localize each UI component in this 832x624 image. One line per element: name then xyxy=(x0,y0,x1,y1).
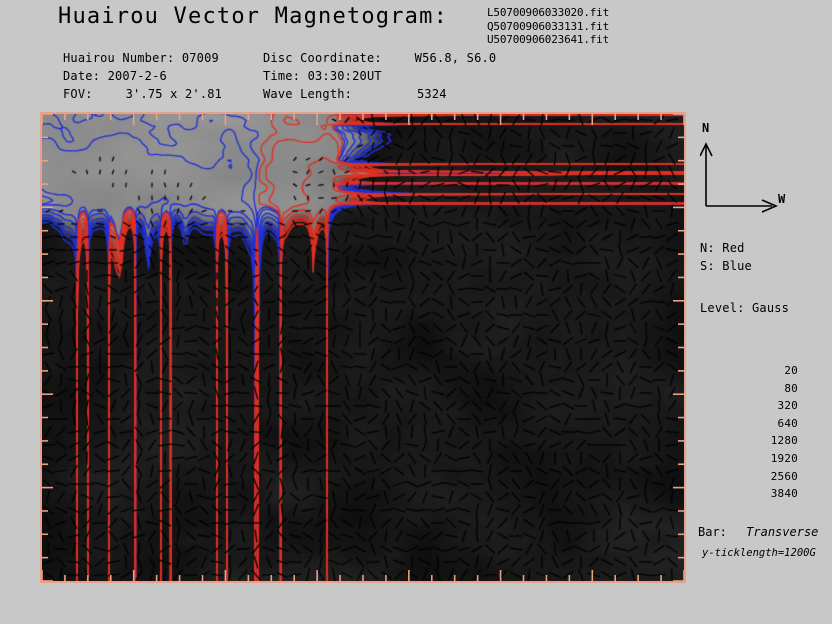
magnetogram-page: Huairou Vector Magnetogram: L50700906033… xyxy=(0,0,832,624)
time-row: Time: 03:30:20UT xyxy=(263,69,382,83)
bar-row: Bar: Transverse xyxy=(698,525,818,539)
bar-label: Bar: xyxy=(698,525,727,539)
huairou-number-value: 07009 xyxy=(182,51,219,65)
polarity-south-label: S: Blue xyxy=(700,259,752,273)
time-value: 03:30:20UT xyxy=(308,69,382,83)
disc-coordinate-row: Disc Coordinate: W56.8, S6.0 xyxy=(263,51,496,65)
legend-panel: N W N: Red S: Blue Level: Gauss 20 80 32… xyxy=(686,112,832,583)
bar-value: Transverse xyxy=(746,525,818,539)
compass-rose xyxy=(700,124,810,219)
compass-west-label: W xyxy=(778,192,785,206)
disc-coordinate-value: W56.8, S6.0 xyxy=(415,51,497,65)
wavelength-value: 5324 xyxy=(417,87,447,101)
wavelength-label: Wave Length: xyxy=(263,87,352,101)
contour-level: 1280 xyxy=(686,432,798,450)
axis-tickmarks xyxy=(40,112,686,583)
contour-level: 640 xyxy=(686,415,798,433)
contour-level-list: 20 80 320 640 1280 1920 2560 3840 xyxy=(686,362,798,503)
huairou-number-row: Huairou Number: 07009 xyxy=(63,51,219,65)
polarity-north-label: N: Red xyxy=(700,241,745,255)
time-label: Time: xyxy=(263,69,300,83)
contour-level: 3840 xyxy=(686,485,798,503)
date-value: 2007-2-6 xyxy=(108,69,167,83)
wavelength-row: Wave Length: 5324 xyxy=(263,87,447,101)
contour-level: 1920 xyxy=(686,450,798,468)
magnetogram-plot xyxy=(40,112,686,583)
contour-level: 80 xyxy=(686,380,798,398)
date-label: Date: xyxy=(63,69,100,83)
contour-level: 320 xyxy=(686,397,798,415)
metadata-block: Huairou Number: 07009 Date: 2007-2-6 FOV… xyxy=(0,0,832,110)
ticklength-label: y-ticklength=1200G xyxy=(702,547,816,559)
compass-north-label: N xyxy=(702,121,709,135)
huairou-number-label: Huairou Number: xyxy=(63,51,174,65)
disc-coordinate-label: Disc Coordinate: xyxy=(263,51,382,65)
level-unit-label: Level: Gauss xyxy=(700,301,789,315)
fov-value: 3'.75 x 2'.81 xyxy=(126,87,223,101)
date-row: Date: 2007-2-6 xyxy=(63,69,167,83)
contour-level: 20 xyxy=(686,362,798,380)
fov-label: FOV: xyxy=(63,87,93,101)
fov-row: FOV: 3'.75 x 2'.81 xyxy=(63,87,222,101)
contour-level: 2560 xyxy=(686,468,798,486)
